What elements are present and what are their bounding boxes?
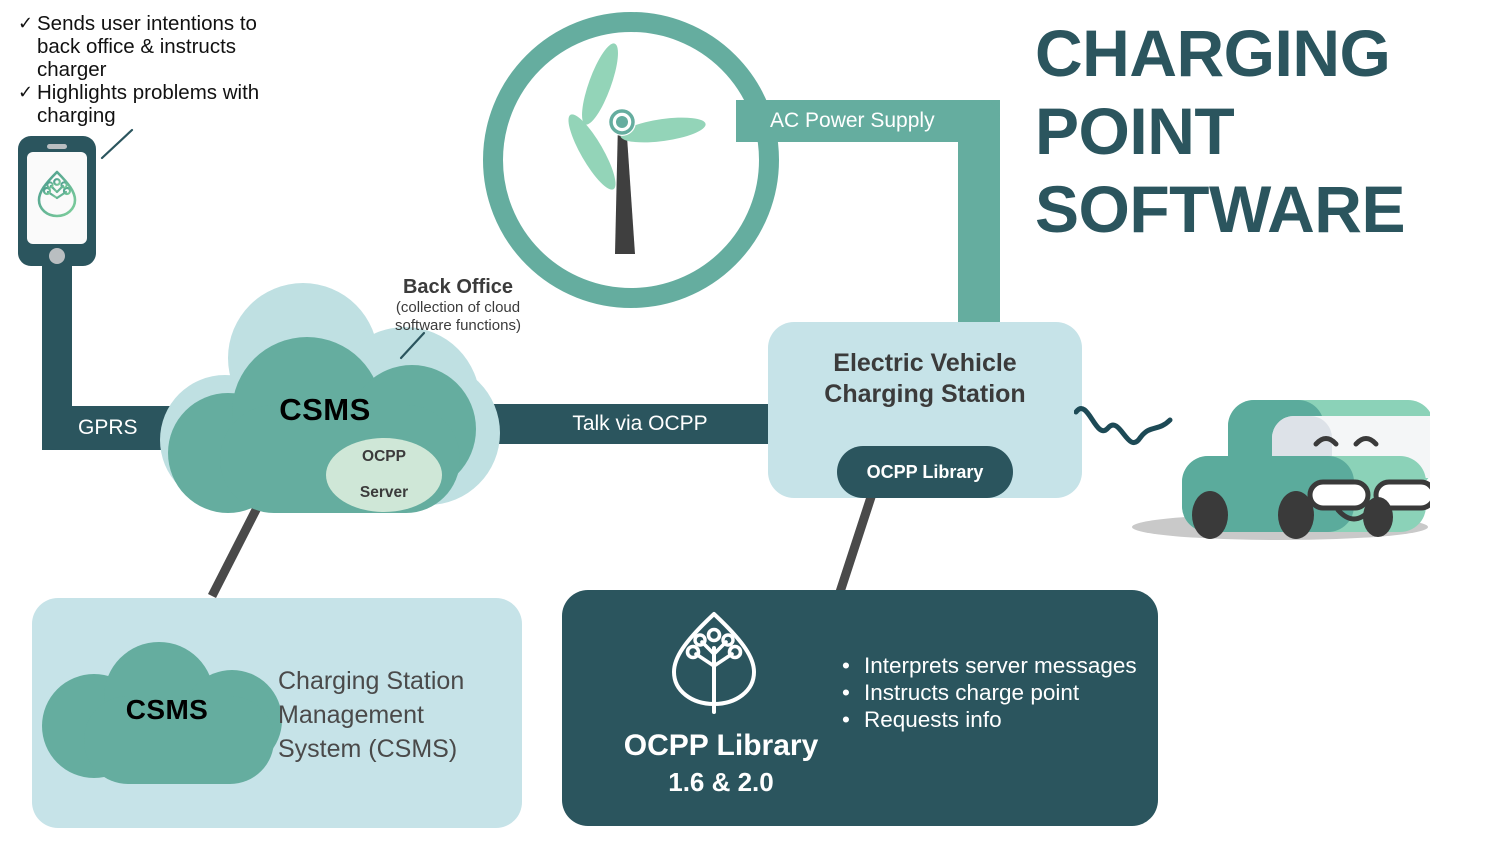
leaf-circuit-logo-icon xyxy=(668,608,760,716)
leaf-circuit-logo-icon xyxy=(35,168,79,228)
checklist-item-label: Highlights problems with charging xyxy=(37,81,268,127)
car-wheel-mid xyxy=(1278,491,1314,539)
back-office-annotation: Back Office (collection of cloud softwar… xyxy=(374,275,542,335)
phone-home-button xyxy=(49,248,65,264)
ac-power-supply-label: AC Power Supply xyxy=(770,102,980,140)
ev-charging-station-title: Electric Vehicle Charging Station xyxy=(768,348,1082,410)
ocpp-panel-title: OCPP Library xyxy=(582,728,860,764)
bullet-list-item: • Requests info xyxy=(842,706,1142,733)
bullet-dot-icon: • xyxy=(842,652,864,679)
bullet-dot-icon: • xyxy=(842,706,864,733)
cloud-csms-label: CSMS xyxy=(250,392,400,428)
checklist-item-label: Sends user intentions to back office & i… xyxy=(37,12,268,81)
title-line-3: SOFTWARE xyxy=(1035,170,1485,248)
cloud-to-legend-line xyxy=(212,498,262,596)
ocpp-panel-version: 1.6 & 2.0 xyxy=(582,766,860,798)
turbine-graphic xyxy=(483,12,759,288)
check-icon: ✓ xyxy=(18,12,37,35)
bullet-dot-icon: • xyxy=(842,679,864,706)
check-icon: ✓ xyxy=(18,81,37,104)
csms-legend-line3: System (CSMS) xyxy=(278,735,457,763)
ocpp-server-badge: OCPP Server xyxy=(326,438,442,512)
infographic-canvas: CHARGING POINT SOFTWARE ✓ Sends user int… xyxy=(0,0,1494,854)
title-line-1: CHARGING xyxy=(1035,14,1485,92)
evcs-title-line1: Electric Vehicle xyxy=(833,349,1016,377)
station-to-library-line xyxy=(840,494,872,592)
checklist-item: ✓ Highlights problems with charging xyxy=(18,81,268,127)
back-office-subtitle-1: (collection of cloud xyxy=(374,299,542,317)
car-graphic xyxy=(1120,390,1430,545)
ocpp-library-pill: OCPP Library xyxy=(837,446,1013,498)
turbine-hub-center xyxy=(616,116,628,128)
csms-legend-cloud-label: CSMS xyxy=(112,694,222,726)
csms-legend-line1: Charging Station xyxy=(278,667,464,695)
evcs-title-line2: Charging Station xyxy=(824,380,1025,408)
ocpp-library-pill-label: OCPP Library xyxy=(867,462,984,483)
csms-legend-line2: Management xyxy=(278,701,424,729)
phone-feature-checklist: ✓ Sends user intentions to back office &… xyxy=(18,12,268,127)
wind-turbine-illustration xyxy=(483,12,759,288)
car-headlight-left xyxy=(1310,482,1368,508)
ocpp-panel-bullet-list: • Interprets server messages • Instructs… xyxy=(842,652,1142,733)
back-office-title: Back Office xyxy=(374,275,542,299)
phone-speaker-icon xyxy=(47,144,67,149)
turbine-mast xyxy=(615,122,635,254)
title-line-2: POINT xyxy=(1035,92,1485,170)
phone-pointer-line xyxy=(96,128,136,162)
checklist-item: ✓ Sends user intentions to back office &… xyxy=(18,12,268,81)
ocpp-server-label-line1: OCPP xyxy=(360,448,408,466)
smartphone-illustration xyxy=(18,136,98,268)
ocpp-server-label-line2: Server xyxy=(360,484,408,502)
electric-car-illustration xyxy=(1120,390,1430,545)
bullet-list-item: • Instructs charge point xyxy=(842,679,1142,706)
car-wheel-rear xyxy=(1192,491,1228,539)
ocpp-connector-label: Talk via OCPP xyxy=(470,405,810,443)
phone-screen xyxy=(27,152,87,244)
bullet-label: Interprets server messages xyxy=(864,652,1142,679)
bullet-label: Requests info xyxy=(864,706,1142,733)
back-office-pointer-line xyxy=(396,330,430,362)
page-title: CHARGING POINT SOFTWARE xyxy=(1035,14,1485,248)
bullet-list-item: • Interprets server messages xyxy=(842,652,1142,679)
bullet-label: Instructs charge point xyxy=(864,679,1142,706)
car-wheel-front xyxy=(1363,497,1393,537)
csms-legend-description: Charging Station Management System (CSMS… xyxy=(278,664,518,766)
